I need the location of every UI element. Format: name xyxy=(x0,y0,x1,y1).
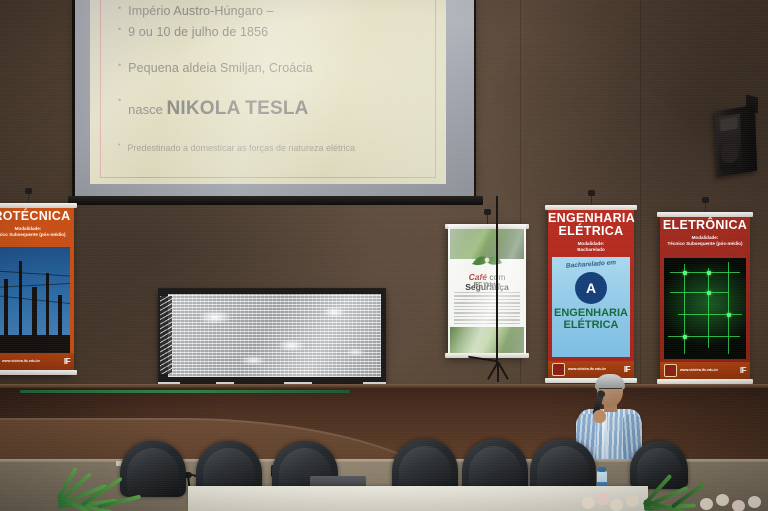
banner-footer: www.videira.ifc.edu.br IF xyxy=(660,362,750,379)
banner-header: TROTÉCNICA Modalidade: Técnico Subsequen… xyxy=(0,203,74,238)
slide-spacer xyxy=(118,131,434,141)
bullet-dot-icon: • xyxy=(118,94,121,108)
banner-title: TROTÉCNICA xyxy=(0,210,74,223)
slide-spacer xyxy=(118,80,434,94)
banner-script-text: Bacharelado em xyxy=(552,258,630,270)
if-logo: IF xyxy=(624,365,630,374)
banner-top-rail xyxy=(657,212,753,217)
banner-bottom-rail xyxy=(0,370,77,375)
slide-footnote: Predestinado a domesticar as forças de n… xyxy=(127,141,355,155)
bottle-cap xyxy=(598,467,606,472)
mic-stand-leg xyxy=(497,362,499,382)
banner-eletrotecnica: TROTÉCNICA Modalidade: Técnico Subsequen… xyxy=(0,203,74,375)
projection-screen-bottom-bar xyxy=(68,196,483,205)
bullet-dot-icon: • xyxy=(118,2,121,16)
banner-title: ELETRÔNICA xyxy=(660,219,750,232)
slide-spacer xyxy=(118,45,434,59)
mesh-highlights xyxy=(168,294,381,377)
banner-footer: www.videira.ifc.edu.br IF xyxy=(0,353,74,370)
banner-url: www.videira.ifc.edu.br xyxy=(680,368,718,373)
banner-photo-substation xyxy=(0,247,70,353)
institution-seal-icon xyxy=(552,363,565,376)
slide-highlight-name: NIKOLA TESLA xyxy=(166,98,308,119)
banner-eletronica: ELETRÔNICA Modalidade: Técnico Subsequen… xyxy=(660,212,750,384)
program-name-line1: ENGENHARIA xyxy=(552,307,630,319)
slide-text-block: • Império Austro-Húngaro – • 9 ou 10 de … xyxy=(118,2,434,157)
presenter-hand xyxy=(593,410,606,423)
slide-bullet-3: Pequena aldeia Smiljan, Croácia xyxy=(128,59,312,78)
panel-wiring xyxy=(160,296,172,374)
slide-highlight-prefix: nasce xyxy=(128,102,163,117)
banner-engenharia-eletrica: ENGENHARIA ELÉTRICA Modalidade: Bacharel… xyxy=(548,205,634,383)
if-logo: IF xyxy=(740,366,746,375)
banner-header: ELETRÔNICA Modalidade: Técnico Subsequen… xyxy=(660,212,750,247)
banner-body-panel: Bacharelado em A ENGENHARIA ELÉTRICA xyxy=(552,257,630,357)
banner-top-rail xyxy=(545,205,637,210)
banner-subtitle-2: Técnico Subsequente (pós-médio) xyxy=(660,241,750,247)
slide-bullet-row: • 9 ou 10 de julho de 1856 xyxy=(118,23,434,42)
pcb-glow xyxy=(664,258,746,359)
projected-slide: • Império Austro-Húngaro – • 9 ou 10 de … xyxy=(90,0,446,184)
auditorium-photo: • Império Austro-Húngaro – • 9 ou 10 de … xyxy=(0,0,768,511)
banner-program-name: ENGENHARIA ELÉTRICA xyxy=(552,307,630,332)
slide-bullet-1: Império Austro-Húngaro – xyxy=(128,2,274,21)
mic-cable xyxy=(468,356,498,362)
program-name-line2: ELÉTRICA xyxy=(552,319,630,331)
banner-subtitle-2: Técnico Subsequente (pós-médio) xyxy=(0,232,74,238)
mic-stand-pole xyxy=(496,196,498,366)
if-logo: IF xyxy=(64,357,70,366)
slide-highlight-row: • nasce NIKOLA TESLA xyxy=(118,94,434,124)
banner-url: www.videira.ifc.edu.br xyxy=(568,367,606,372)
institution-logo-icon: A xyxy=(575,272,607,304)
slide-bullet-row: • Pequena aldeia Smiljan, Croácia xyxy=(118,59,434,78)
flower-arrangement xyxy=(580,492,768,511)
slide-footnote-row: • Predestinado a domesticar as forças de… xyxy=(118,141,434,155)
banner-title-line2: ELÉTRICA xyxy=(548,225,634,238)
reflective-mesh-panel xyxy=(158,288,386,384)
banner-header: ENGENHARIA ELÉTRICA Modalidade: Bacharel… xyxy=(548,205,634,253)
microphone-stand xyxy=(468,196,528,386)
banner-url: www.videira.ifc.edu.br xyxy=(2,359,40,364)
institution-seal-icon xyxy=(664,364,677,377)
logo-glyph: A xyxy=(586,280,596,296)
pa-speaker xyxy=(715,105,757,177)
slide-bullet-2: 9 ou 10 de julho de 1856 xyxy=(128,23,268,42)
potted-fern xyxy=(58,470,168,511)
front-table xyxy=(188,486,648,511)
mic-stand-leg xyxy=(497,362,508,380)
bullet-dot-icon: • xyxy=(118,23,121,37)
wall-seam xyxy=(640,0,641,392)
green-cable xyxy=(20,390,350,393)
bullet-dot-icon: • xyxy=(118,59,121,73)
pylon-base-mass xyxy=(0,335,70,353)
slide-highlight-line: nasce NIKOLA TESLA xyxy=(128,94,308,124)
bullet-dot-icon: • xyxy=(118,141,120,152)
banner-pcb-graphic xyxy=(664,258,746,359)
banner-subtitle-2: Bacharelado xyxy=(548,247,634,253)
slide-bullet-row: • Império Austro-Húngaro – xyxy=(118,2,434,21)
banner-top-rail xyxy=(0,203,77,208)
